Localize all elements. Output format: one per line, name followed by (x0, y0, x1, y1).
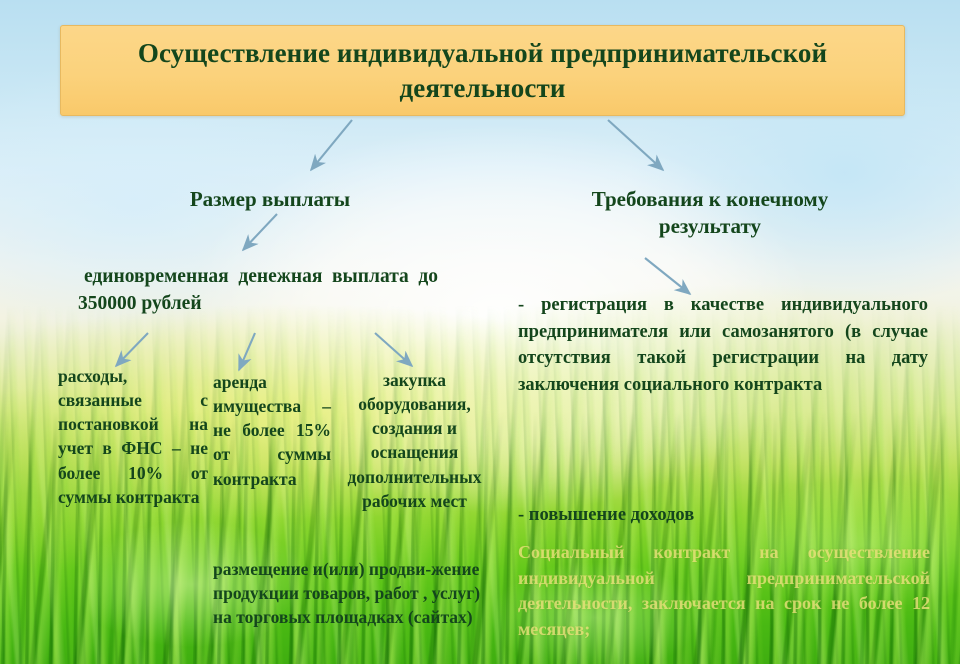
heading-final-result-requirements: Требования к конечному результату (540, 186, 880, 241)
text-contract-duration: Социальный контракт на осуществление инд… (518, 540, 930, 642)
text-registration-requirement: - регистрация в качестве индивидуального… (518, 292, 928, 399)
title-card: Осуществление индивидуальной предпринима… (60, 25, 905, 116)
text-income-increase: - повышение доходов (518, 503, 918, 529)
text-product-placement: размещение и(или) продви-жение продукции… (213, 557, 503, 629)
text-equipment-purchase: закупка оборудования, создания и оснащен… (332, 368, 497, 513)
heading-payment-amount: Размер выплаты (120, 186, 420, 213)
text-property-rent: аренда имущества – не более 15% от суммы… (213, 370, 331, 491)
text-registration-expenses: расходы, связанные с постановкой на учет… (58, 364, 208, 509)
text-lump-sum-payment: единовременная денежная выплата до 35000… (78, 264, 438, 318)
slide-canvas: Осуществление индивидуальной предпринима… (0, 0, 960, 664)
page-title: Осуществление индивидуальной предпринима… (75, 36, 890, 105)
